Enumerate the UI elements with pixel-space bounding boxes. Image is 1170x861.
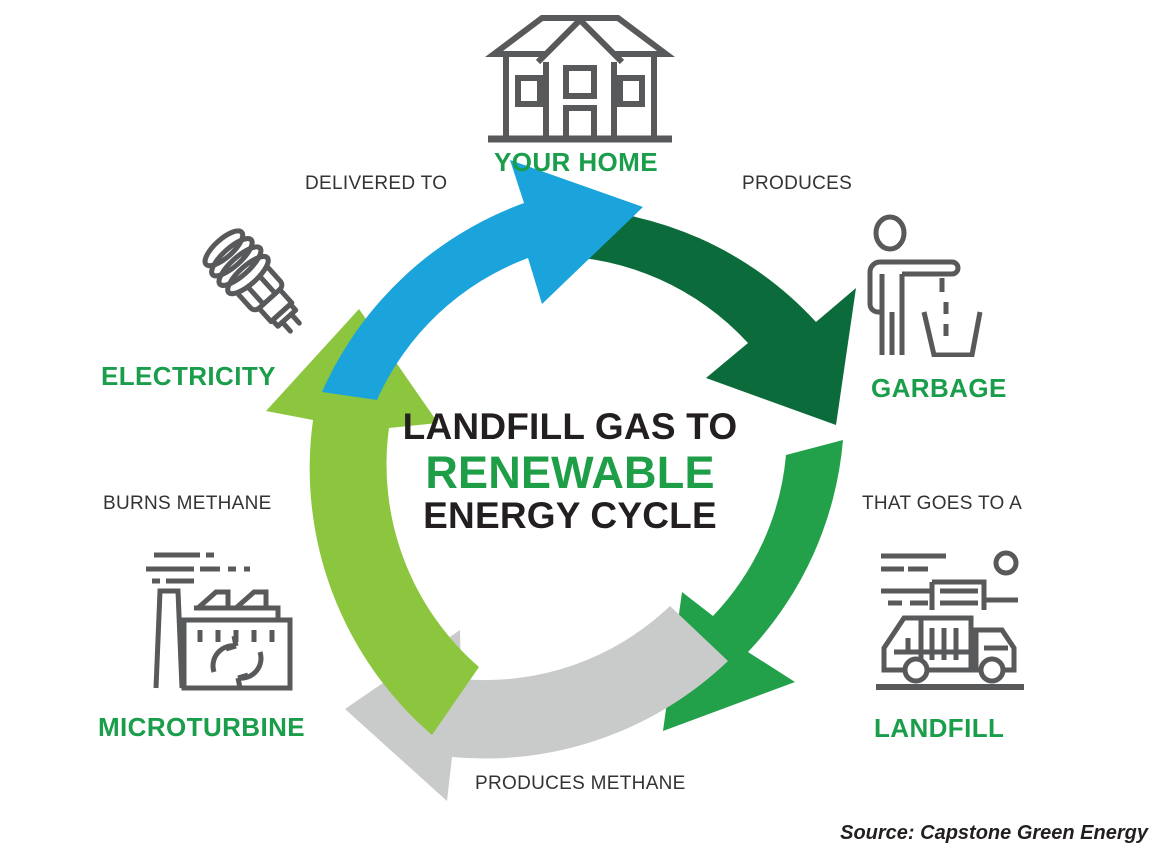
connector-label-produces-methane: PRODUCES METHANE <box>475 773 686 795</box>
title-line-3: ENERGY CYCLE <box>385 497 755 536</box>
house-icon <box>480 6 680 146</box>
title-line-1: LANDFILL GAS TO <box>385 408 755 447</box>
infographic-canvas: YOUR HOME GARBAGE LANDFILL MICROTURBINE … <box>0 0 1170 861</box>
node-label-landfill: LANDFILL <box>874 713 1004 744</box>
factory-icon <box>132 542 307 697</box>
connector-label-produces: PRODUCES <box>742 173 852 195</box>
connector-label-delivered-to: DELIVERED TO <box>305 173 447 195</box>
node-label-electricity: ELECTRICITY <box>101 361 276 392</box>
source-attribution: Source: Capstone Green Energy <box>840 822 1148 845</box>
center-title: LANDFILL GAS TO RENEWABLE ENERGY CYCLE <box>385 408 755 536</box>
connector-label-that-goes-to-a: THAT GOES TO A <box>862 493 1022 515</box>
cfl-bulb-icon <box>186 218 326 350</box>
node-label-home: YOUR HOME <box>494 147 658 178</box>
title-line-2: RENEWABLE <box>385 449 755 496</box>
arrow-electricity-to-home <box>322 160 643 400</box>
node-label-microturbine: MICROTURBINE <box>98 712 305 743</box>
connector-label-burns-methane: BURNS METHANE <box>103 493 272 515</box>
garbage-truck-icon <box>866 542 1031 697</box>
person-throwing-trash-icon <box>858 212 1008 357</box>
node-label-garbage: GARBAGE <box>871 373 1007 404</box>
